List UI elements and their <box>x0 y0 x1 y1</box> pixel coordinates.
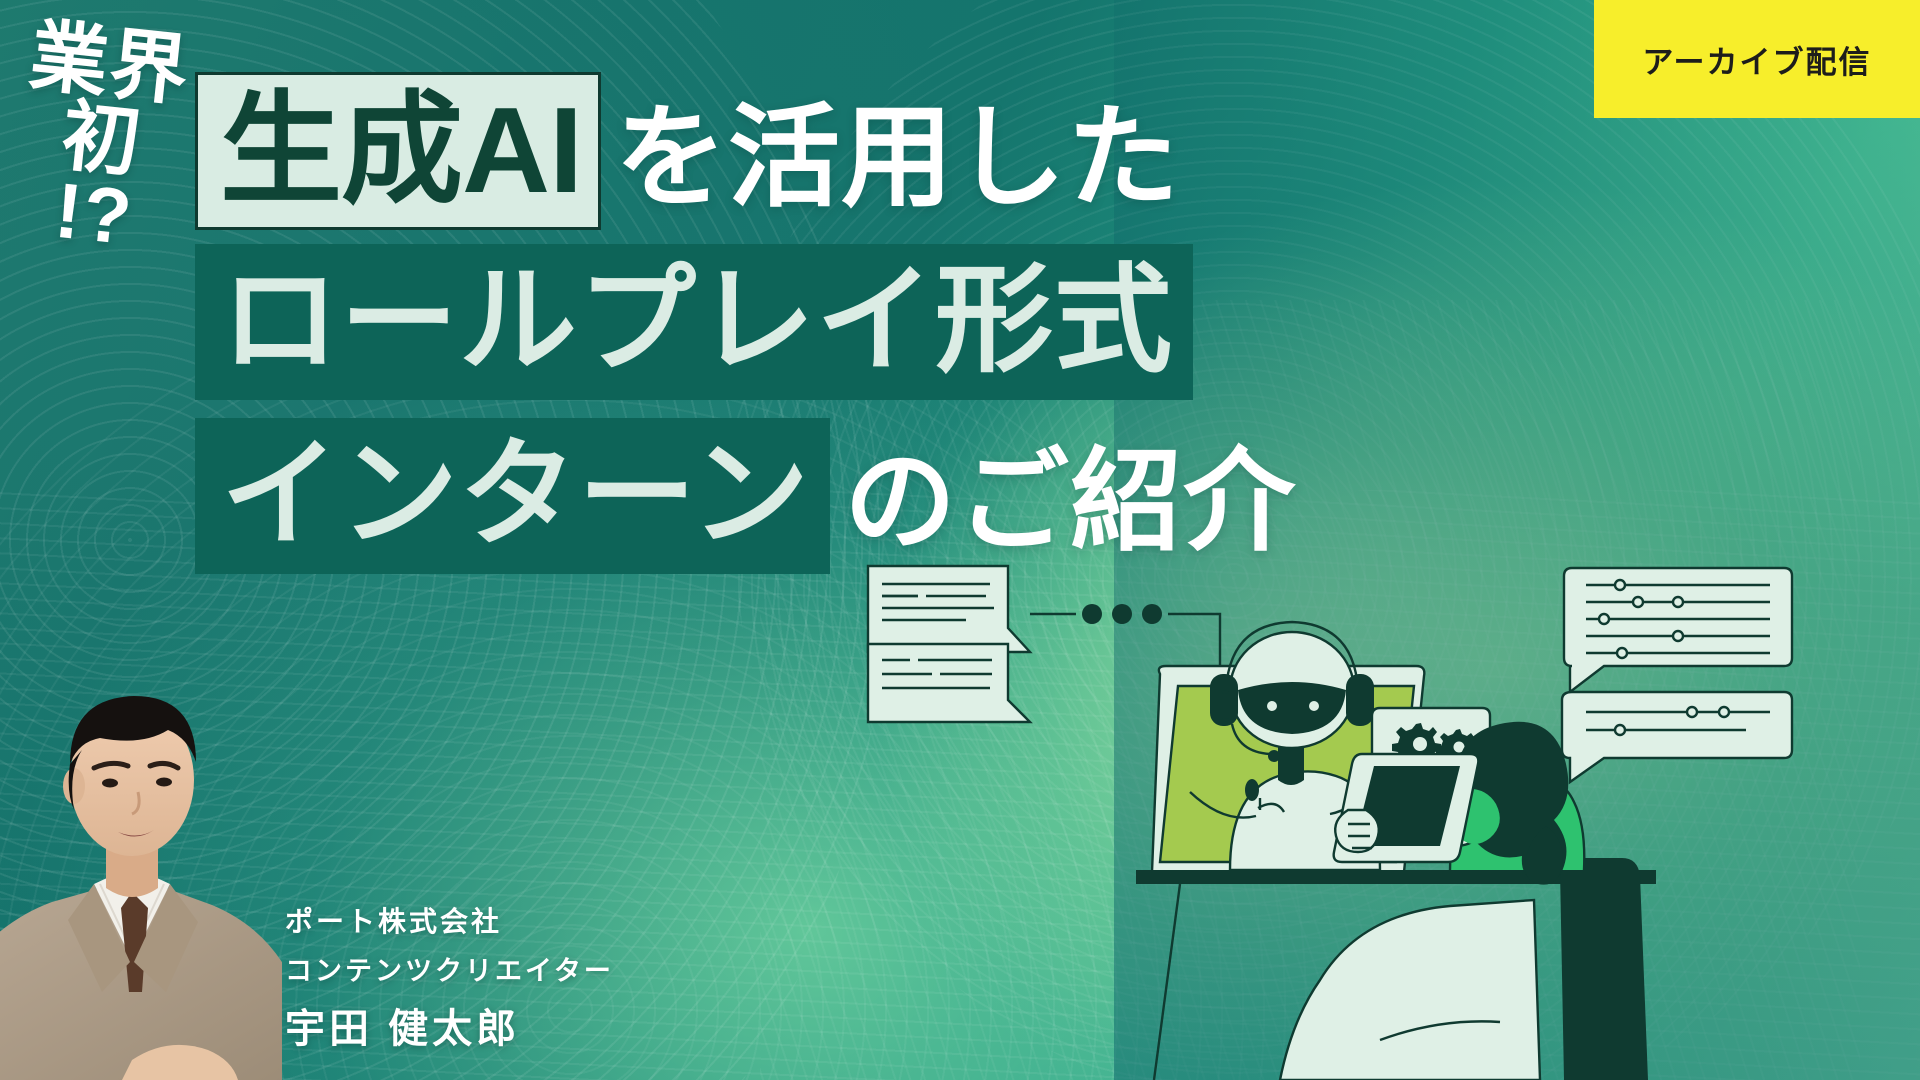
illustration-ai-roleplay: .ink{fill:none;stroke:#0f3a30;stroke-wid… <box>860 540 1920 1080</box>
title-line-2: ロールプレイ形式 <box>195 244 1296 400</box>
presenter-role: コンテンツクリエイター <box>285 949 614 988</box>
chat-bubble-right-1 <box>1564 568 1792 692</box>
presenter-info: ポート株式会社 コンテンツクリエイター 宇田 健太郎 <box>285 900 614 1054</box>
title-line-3-rest: のご紹介 <box>830 446 1296 574</box>
chat-bubble-left-2 <box>868 644 1030 722</box>
presenter-name: 宇田 健太郎 <box>285 996 614 1054</box>
chat-bubble-right-2 <box>1562 692 1792 782</box>
archive-badge-label: アーカイブ配信 <box>1642 37 1871 82</box>
desk-leg <box>1154 884 1180 1080</box>
title-highlight-intern: インターン <box>195 418 830 574</box>
typing-indicator <box>1030 604 1220 672</box>
webinar-banner: アーカイブ配信 業界 初 !? 生成AI を活用した ロールプレイ形式 インター… <box>0 0 1920 1080</box>
title-line-3: インターン のご紹介 <box>195 418 1296 574</box>
chat-bubble-left-1 <box>868 566 1030 652</box>
presenter-company: ポート株式会社 <box>285 900 614 940</box>
title-highlight-roleplay: ロールプレイ形式 <box>195 244 1193 400</box>
title-line-1: 生成AI を活用した <box>195 72 1296 230</box>
archive-badge: アーカイブ配信 <box>1594 0 1920 118</box>
kicker-industry-first: 業界 初 !? <box>11 18 194 260</box>
title-line-1-rest: を活用した <box>601 102 1180 230</box>
presenter-photo <box>0 540 282 1080</box>
page-title: 生成AI を活用した ロールプレイ形式 インターン のご紹介 <box>195 72 1296 574</box>
title-highlight-seiseiai: 生成AI <box>195 72 601 230</box>
